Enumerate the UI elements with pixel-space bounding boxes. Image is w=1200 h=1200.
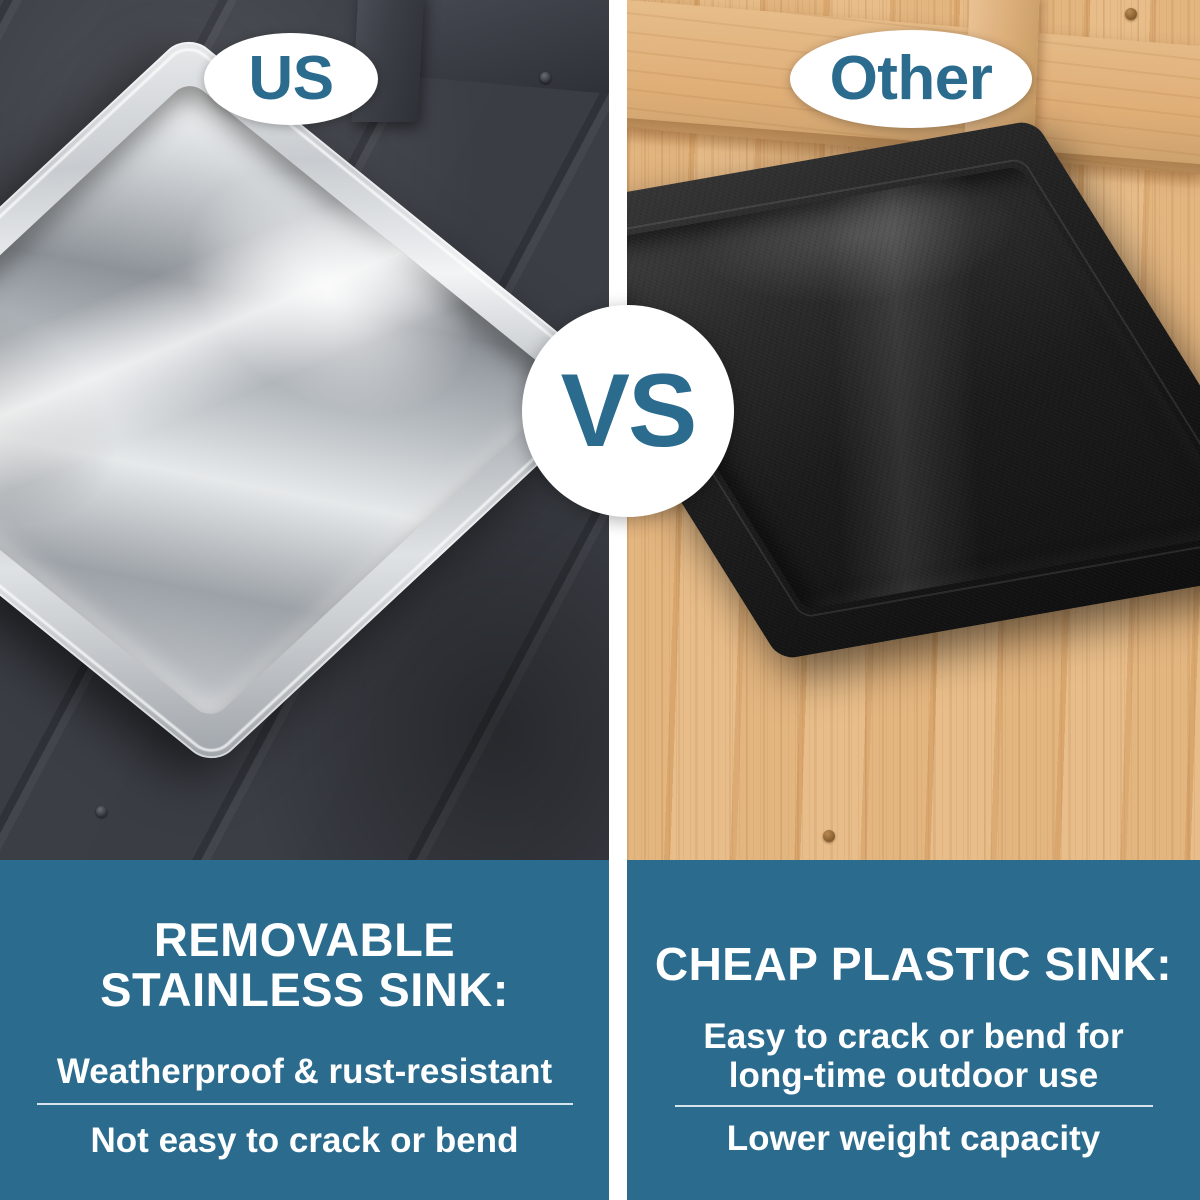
wood-screw-icon — [1125, 8, 1137, 20]
badge-us-label: US — [248, 48, 333, 110]
deck-screw-icon — [96, 806, 107, 817]
right-caption-column: CHEAP PLASTIC SINK: Easy to crack or ben… — [627, 860, 1200, 1200]
right-caption-bullet-2: Lower weight capacity — [641, 1107, 1186, 1158]
stainless-sink-pan — [0, 120, 609, 780]
badge-us: US — [204, 33, 378, 125]
badge-versus-label: VS — [561, 359, 696, 463]
stainless-pan-body — [0, 32, 609, 768]
right-caption-bullet-1: Easy to crack or bend for long-time outd… — [641, 989, 1186, 1095]
panel-divider — [609, 0, 627, 1200]
wood-screw-icon — [823, 830, 835, 842]
caption-panel: REMOVABLE STAINLESS SINK: Weatherproof &… — [0, 860, 1200, 1200]
plastic-sink-pan — [637, 140, 1200, 820]
stainless-pan-rim — [0, 40, 609, 760]
left-caption-column: REMOVABLE STAINLESS SINK: Weatherproof &… — [0, 860, 609, 1200]
badge-versus: VS — [522, 305, 734, 517]
badge-other: Other — [790, 30, 1032, 128]
comparison-infographic: US Other VS REMOVABLE STAINLESS SINK: We… — [0, 0, 1200, 1200]
deck-screw-icon — [540, 72, 551, 83]
left-caption-title: REMOVABLE STAINLESS SINK: — [16, 860, 593, 1015]
right-caption-title: CHEAP PLASTIC SINK: — [641, 860, 1186, 989]
left-caption-bullet-1: Weatherproof & rust-resistant — [16, 1015, 593, 1091]
badge-other-label: Other — [830, 48, 993, 110]
left-product-photo — [0, 0, 609, 860]
left-caption-bullet-2: Not easy to crack or bend — [16, 1105, 593, 1160]
